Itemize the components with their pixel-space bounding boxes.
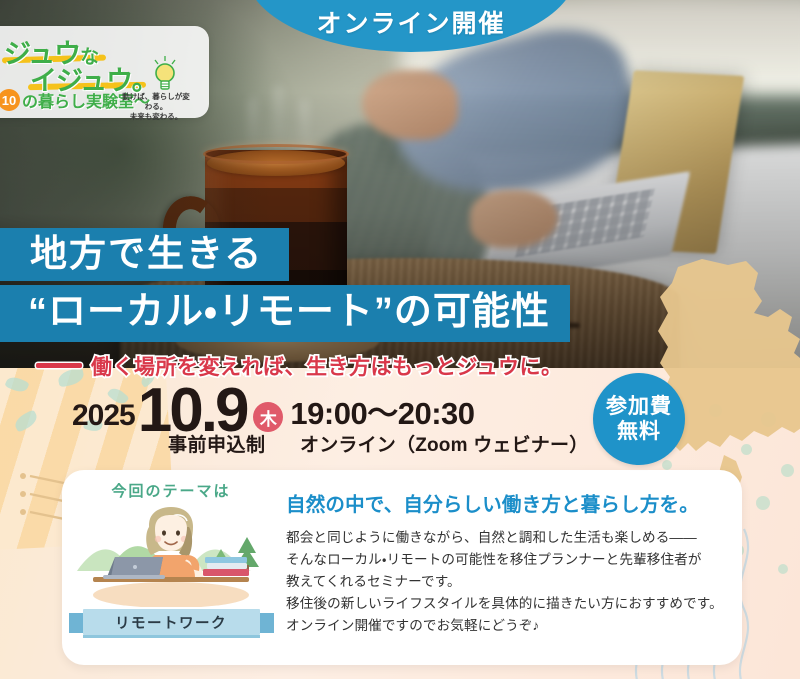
theme-label: 今回のテーマは bbox=[111, 480, 230, 501]
logo-number-badge: 10 bbox=[0, 89, 20, 111]
event-year: 2025 bbox=[72, 399, 135, 439]
theme-ribbon-label: リモートワーク bbox=[69, 609, 274, 639]
hero-title-block: 地方で生きる “ローカル・リモート”の可能性 働く場所を変えれば、生き方はもっと… bbox=[0, 228, 800, 381]
fee-badge: 参加費 無料 bbox=[593, 373, 685, 465]
registration-note: 事前申込制 bbox=[168, 430, 266, 457]
theme-card: 今回のテーマは bbox=[62, 470, 742, 665]
theme-card-right: 自然の中で、自分らしい働き方と暮らし方を。 都会と同じように働きながら、自然と調… bbox=[280, 470, 742, 665]
logo-tagline: 動けば、暮らしが変わる。未来も変わる。 bbox=[120, 92, 192, 122]
theme-card-left: 今回のテーマは bbox=[62, 470, 280, 665]
theme-body-line: 教えてくれるセミナーです。 bbox=[286, 571, 728, 593]
event-platform: オンライン（Zoom ウェビナー） bbox=[300, 430, 588, 457]
theme-ribbon: リモートワーク bbox=[69, 609, 274, 639]
lightbulb-icon bbox=[150, 56, 180, 92]
event-day-of-week: 木 bbox=[253, 402, 283, 432]
theme-body-line: 移住後の新しいライフスタイルを具体的に描きたい方におすすめです。 bbox=[286, 593, 728, 615]
seminar-poster: オンライン開催 ジュウな イジュウ。 10 の暮らし実験室〜 動けば、暮らしが変… bbox=[0, 0, 800, 679]
theme-body: 都会と同じように働きながら、自然と調和した生活も楽しめる—— そんなローカル・リ… bbox=[286, 527, 728, 637]
fee-badge-line-1: 参加費 bbox=[606, 395, 672, 419]
theme-body-line: オンライン開催ですのでお気軽にどうぞ♪ bbox=[286, 615, 728, 637]
subtitle-dash bbox=[36, 363, 82, 368]
hero-subtitle: 働く場所を変えれば、生き方はもっとジュウに。 bbox=[0, 351, 800, 381]
brand-logo: ジュウな イジュウ。 10 の暮らし実験室〜 動けば、暮らしが変わる。未来も変わ… bbox=[0, 26, 209, 118]
hero-title-line-2: “ローカル・リモート”の可能性 bbox=[0, 285, 570, 342]
theme-body-line: そんなローカル・リモートの可能性を移住プランナーと先輩移住者が bbox=[286, 549, 728, 571]
online-event-banner-label: オンライン開催 bbox=[316, 4, 505, 40]
theme-body-line: 都会と同じように働きながら、自然と調和した生活も楽しめる—— bbox=[286, 527, 728, 549]
hero-title-line-1: 地方で生きる bbox=[0, 228, 289, 281]
theme-heading: 自然の中で、自分らしい働き方と暮らし方を。 bbox=[286, 488, 728, 517]
fee-badge-line-2: 無料 bbox=[617, 420, 661, 444]
remote-work-illustration bbox=[71, 503, 271, 607]
